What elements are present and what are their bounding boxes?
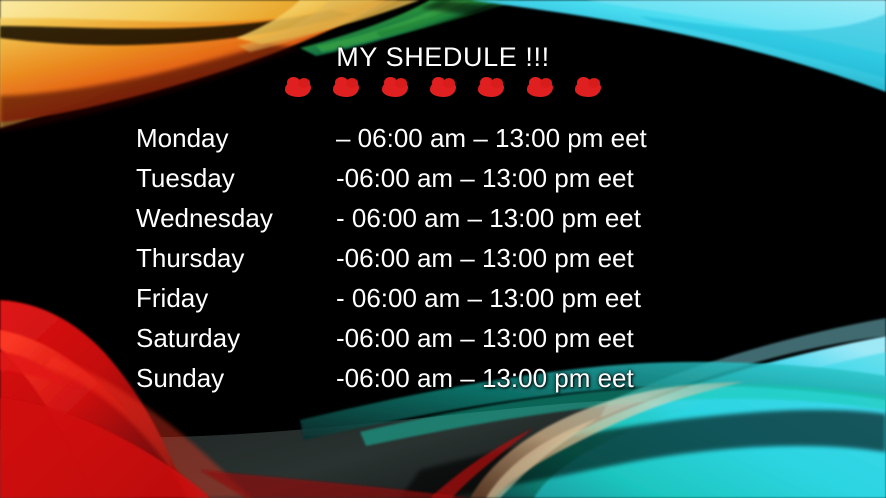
schedule-row: Friday - 06:00 am – 13:00 pm eet xyxy=(0,278,886,318)
bullet-blob-icon xyxy=(430,80,456,97)
schedule-day-label: Saturday xyxy=(0,318,336,358)
schedule-day-label: Sunday xyxy=(0,358,336,398)
bullet-blob-icon xyxy=(527,80,553,97)
bullet-blob-icon xyxy=(333,80,359,97)
schedule-row: Wednesday- 06:00 am – 13:00 pm eet xyxy=(0,198,886,238)
page-title: MY SHEDULE !!! xyxy=(336,44,549,71)
bullet-blob-icon xyxy=(575,80,601,97)
schedule-time-value: -06:00 am – 13:00 pm eet xyxy=(336,358,634,398)
schedule-day-label: Friday xyxy=(0,278,336,318)
schedule-time-value: - 06:00 am – 13:00 pm eet xyxy=(336,198,641,238)
presentation-slide: MY SHEDULE !!! Monday– 06:00 am – 13:00 … xyxy=(0,0,886,498)
bullet-blob-icon xyxy=(382,80,408,97)
schedule-row: Monday– 06:00 am – 13:00 pm eet xyxy=(0,118,886,158)
schedule-day-label: Wednesday xyxy=(0,198,336,238)
schedule-row: Tuesday -06:00 am – 13:00 pm eet xyxy=(0,158,886,198)
schedule-time-value: -06:00 am – 13:00 pm eet xyxy=(336,238,634,278)
title-block: MY SHEDULE !!! xyxy=(0,44,886,71)
bullet-blob-icon xyxy=(478,80,504,97)
schedule-day-label: Thursday xyxy=(0,238,336,278)
schedule-row: Sunday -06:00 am – 13:00 pm eet xyxy=(0,358,886,398)
schedule-day-label: Tuesday xyxy=(0,158,336,198)
schedule-time-value: - 06:00 am – 13:00 pm eet xyxy=(336,278,641,318)
schedule-row: Saturday-06:00 am – 13:00 pm eet xyxy=(0,318,886,358)
schedule-time-value: -06:00 am – 13:00 pm eet xyxy=(336,158,634,198)
bullet-blob-icon xyxy=(285,80,311,97)
schedule-row: Thursday-06:00 am – 13:00 pm eet xyxy=(0,238,886,278)
schedule-list: Monday– 06:00 am – 13:00 pm eet Tuesday … xyxy=(0,118,886,398)
bullet-decoration-row xyxy=(0,80,886,97)
schedule-day-label: Monday xyxy=(0,118,336,158)
schedule-time-value: -06:00 am – 13:00 pm eet xyxy=(336,318,634,358)
schedule-time-value: – 06:00 am – 13:00 pm eet xyxy=(336,118,647,158)
